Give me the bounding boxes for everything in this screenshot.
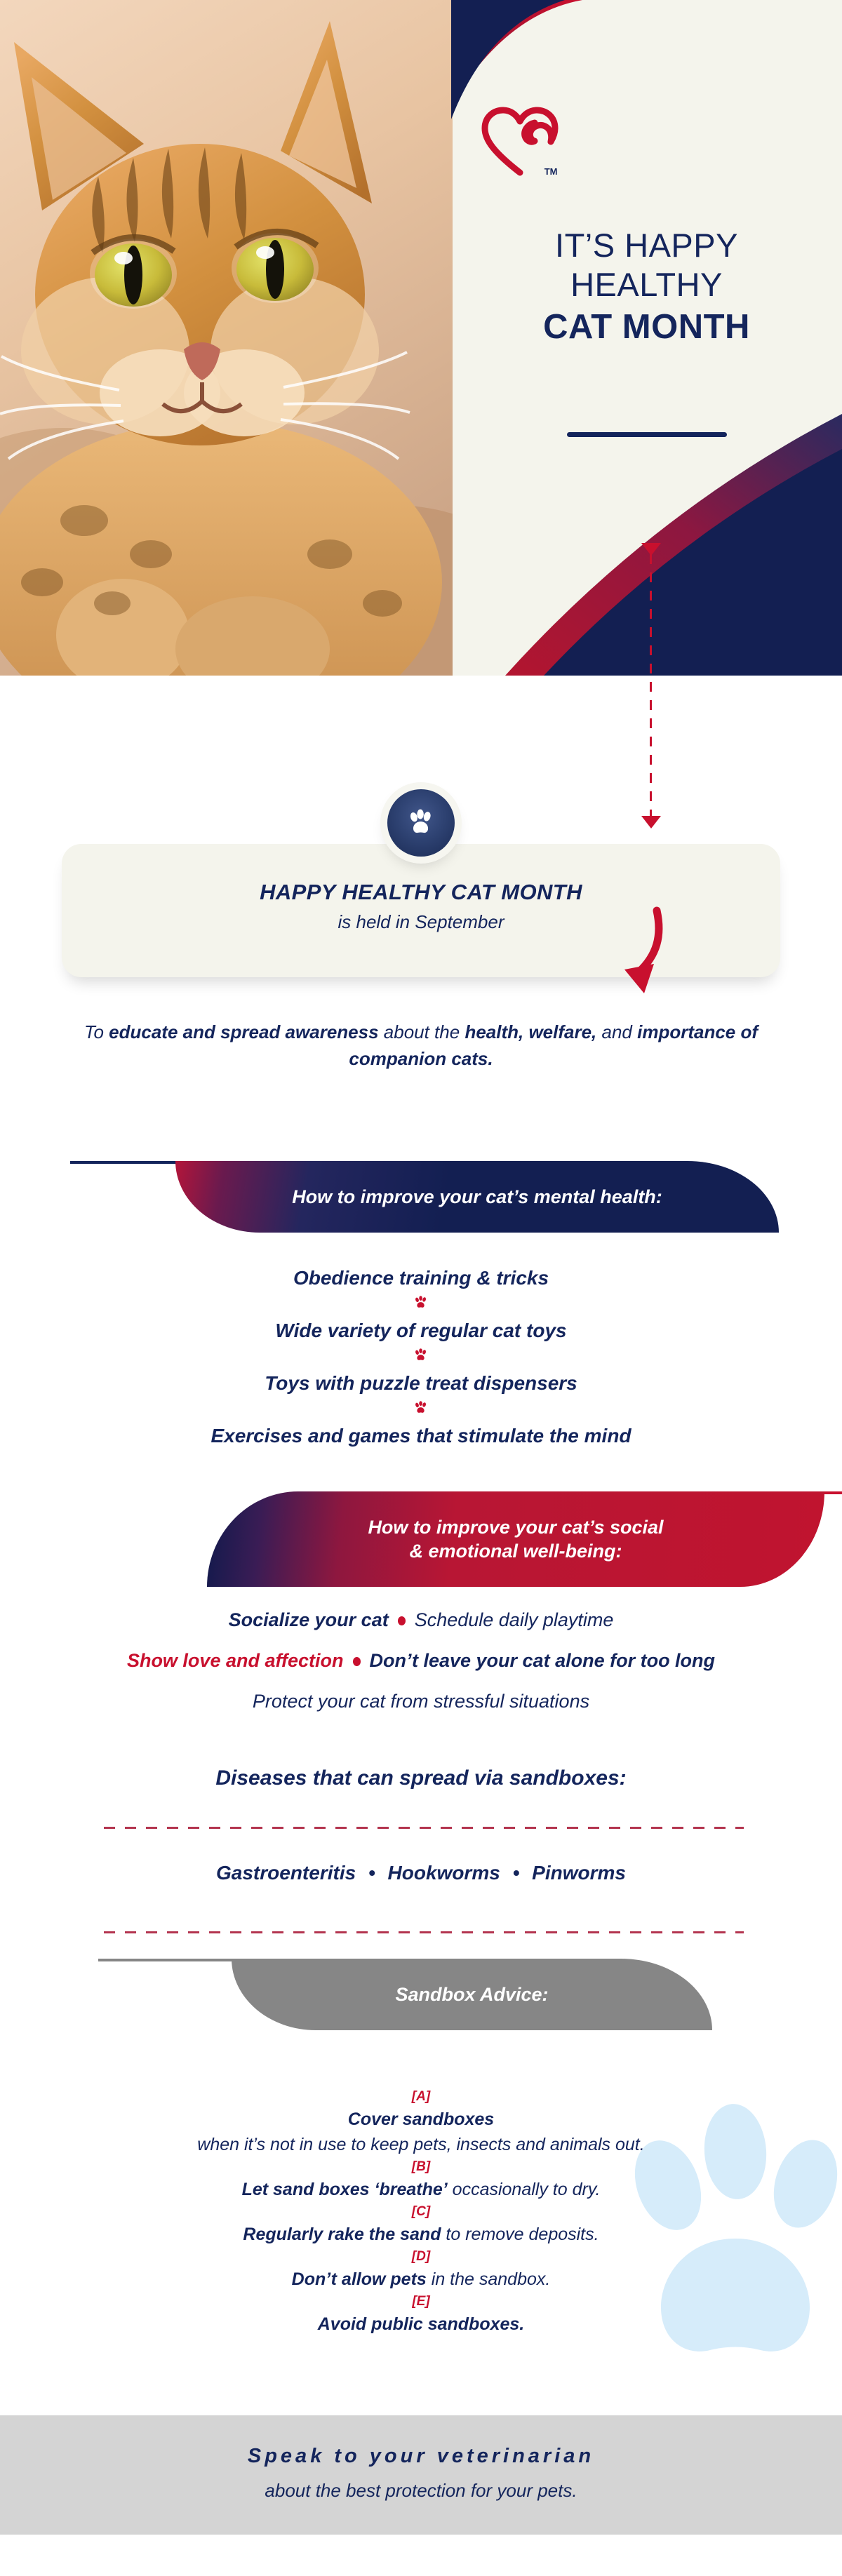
disease-item: Gastroenteritis bbox=[216, 1862, 356, 1884]
disease-item: Pinworms bbox=[532, 1862, 626, 1884]
disease-separator: • bbox=[500, 1862, 532, 1884]
sandbox-item-lead: Let sand boxes ‘breathe’ bbox=[242, 2180, 448, 2199]
social-wellbeing-row: Protect your cat from stressful situatio… bbox=[0, 1681, 842, 1722]
bengal-cat-photo bbox=[0, 0, 453, 676]
sandbox-item-lead: Regularly rake the sand bbox=[243, 2225, 441, 2244]
card-title: HAPPY HEALTHY CAT MONTH bbox=[62, 880, 780, 905]
sandbox-item-letter: [D] bbox=[0, 2247, 842, 2267]
social-wellbeing-row: Socialize your catSchedule daily playtim… bbox=[0, 1599, 842, 1640]
paw-print-bullet-icon bbox=[413, 1400, 429, 1416]
social-wellbeing-list: Socialize your catSchedule daily playtim… bbox=[0, 1599, 842, 1722]
header-section: TM IT’S HAPPY HEALTHY CAT MONTH bbox=[0, 0, 842, 676]
social-banner-label: How to improve your cat’s social & emoti… bbox=[207, 1491, 824, 1587]
footer-subtext: about the best protection for your pets. bbox=[0, 2480, 842, 2502]
social-wellbeing-row: Show love and affectionDon’t leave your … bbox=[0, 1640, 842, 1681]
social-banner-line-1: How to improve your cat’s social bbox=[368, 1517, 663, 1538]
social-wellbeing-banner: How to improve your cat’s social & emoti… bbox=[207, 1491, 824, 1587]
mental-banner-label: How to improve your cat’s mental health: bbox=[175, 1161, 779, 1233]
title-underline-rule bbox=[451, 432, 842, 437]
cat-photo-art bbox=[0, 0, 453, 676]
diseases-list: Gastroenteritis • Hookworms • Pinworms bbox=[0, 1862, 842, 1884]
sandbox-item-text: Regularly rake the sand to remove deposi… bbox=[0, 2222, 842, 2247]
paw-separator bbox=[0, 1295, 842, 1314]
paw-badge-circle bbox=[387, 789, 455, 857]
purpose-fragment: about the bbox=[379, 1021, 465, 1042]
purpose-fragment: and bbox=[596, 1021, 637, 1042]
page-title: IT’S HAPPY HEALTHY CAT MONTH bbox=[451, 226, 842, 348]
mental-health-item: Obedience training & tricks bbox=[0, 1266, 842, 1290]
sandbox-item-text: Avoid public sandboxes. bbox=[0, 2312, 842, 2337]
sandbox-item-lead: Don’t allow pets bbox=[292, 2269, 427, 2289]
logo-container: TM bbox=[0, 104, 842, 181]
title-line-1: IT’S HAPPY bbox=[451, 226, 842, 265]
trademark-label: TM bbox=[544, 166, 558, 177]
paw-separator bbox=[0, 1400, 842, 1419]
diseases-heading: Diseases that can spread via sandboxes: bbox=[0, 1766, 842, 1790]
sandbox-item-letter: [C] bbox=[0, 2202, 842, 2222]
disease-item: Hookworms bbox=[388, 1862, 500, 1884]
infographic-page: TM IT’S HAPPY HEALTHY CAT MONTH HAPPY HE… bbox=[0, 0, 842, 2576]
purpose-fragment: To bbox=[84, 1021, 109, 1042]
sandbox-item-text: Cover sandboxeswhen it’s not in use to k… bbox=[0, 2107, 842, 2157]
sandbox-item-lead: Cover sandboxes bbox=[348, 2109, 494, 2129]
sandbox-item-letter: [A] bbox=[0, 2087, 842, 2107]
sandbox-item-letter: [E] bbox=[0, 2292, 842, 2312]
sandbox-item-text: Let sand boxes ‘breathe’ occasionally to… bbox=[0, 2177, 842, 2202]
social-wellbeing-item: Schedule daily playtime bbox=[415, 1609, 614, 1630]
paw-print-icon bbox=[406, 807, 436, 838]
social-wellbeing-item: Socialize your cat bbox=[229, 1609, 389, 1630]
sandbox-advice-banner: Sandbox Advice: bbox=[232, 1959, 712, 2030]
sandbox-item-rest: in the sandbox. bbox=[427, 2269, 551, 2289]
sandbox-banner-label: Sandbox Advice: bbox=[232, 1959, 712, 2030]
connector-arrow-bottom bbox=[641, 816, 661, 829]
title-line-2: HEALTHY bbox=[451, 265, 842, 304]
purpose-statement: To educate and spread awareness about th… bbox=[63, 1019, 779, 1072]
sandbox-banner-rule bbox=[98, 1959, 239, 1961]
sandbox-item-rest: occasionally to dry. bbox=[448, 2180, 601, 2199]
paw-print-bullet-icon bbox=[413, 1348, 429, 1363]
sandbox-item-text: Don’t allow pets in the sandbox. bbox=[0, 2267, 842, 2292]
dashed-connector-line bbox=[650, 554, 652, 817]
mental-health-item: Wide variety of regular cat toys bbox=[0, 1319, 842, 1343]
mental-health-list: Obedience training & tricksWide variety … bbox=[0, 1266, 842, 1448]
footer-headline: Speak to your veterinarian bbox=[0, 2445, 842, 2468]
sandbox-item-rest: to remove deposits. bbox=[441, 2225, 599, 2244]
social-wellbeing-item: Show love and affection bbox=[127, 1650, 344, 1671]
social-wellbeing-item: Don’t leave your cat alone for too long bbox=[370, 1650, 716, 1671]
purpose-fragment: educate and spread awareness bbox=[109, 1021, 378, 1042]
social-banner-line-2: & emotional well-being: bbox=[409, 1541, 622, 1562]
diseases-dashed-rule-top bbox=[104, 1827, 744, 1829]
paw-print-bullet-icon bbox=[413, 1295, 429, 1310]
mental-health-item: Exercises and games that stimulate the m… bbox=[0, 1424, 842, 1448]
bullet-dot-icon bbox=[398, 1616, 406, 1625]
sandbox-advice-list: [A]Cover sandboxeswhen it’s not in use t… bbox=[0, 2087, 842, 2337]
sandbox-item-rest: when it’s not in use to keep pets, insec… bbox=[197, 2135, 644, 2154]
social-wellbeing-item: Protect your cat from stressful situatio… bbox=[253, 1691, 589, 1712]
title-line-3: CAT MONTH bbox=[451, 306, 842, 348]
diseases-dashed-rule-bottom bbox=[104, 1931, 744, 1933]
mental-health-banner: How to improve your cat’s mental health: bbox=[175, 1161, 779, 1233]
purpose-fragment: health, welfare, bbox=[465, 1021, 596, 1042]
paw-separator bbox=[0, 1348, 842, 1367]
disease-separator: • bbox=[356, 1862, 387, 1884]
bullet-dot-icon bbox=[353, 1657, 361, 1666]
footer-bar: Speak to your veterinarian about the bes… bbox=[0, 2415, 842, 2535]
sandbox-item-letter: [B] bbox=[0, 2157, 842, 2177]
sandbox-item-lead: Avoid public sandboxes. bbox=[318, 2314, 525, 2334]
curved-arrow-icon bbox=[589, 905, 681, 1003]
mental-health-item: Toys with puzzle treat dispensers bbox=[0, 1371, 842, 1395]
